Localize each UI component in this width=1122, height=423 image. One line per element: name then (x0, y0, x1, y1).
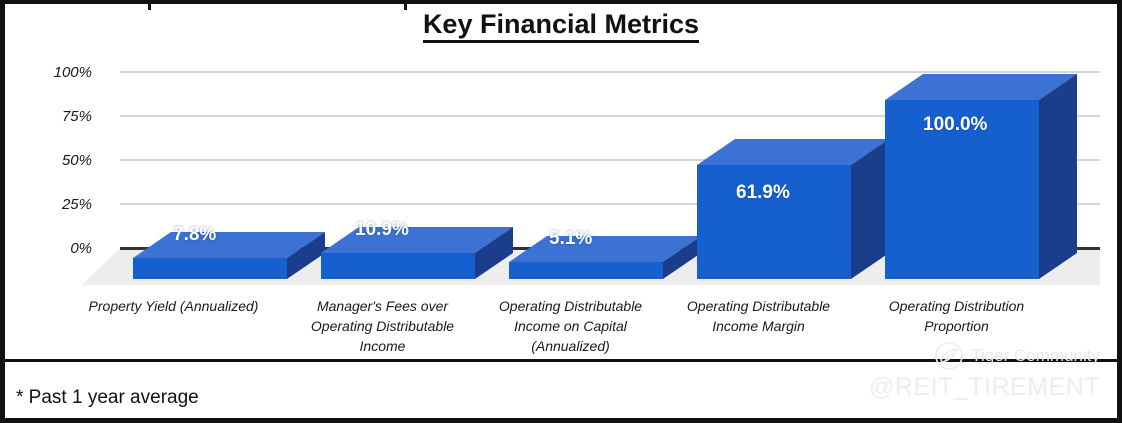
x-category-label-1: Property Yield (Annualized) (66, 296, 281, 316)
watermark-handle: @REIT_TIREMENT (869, 373, 1100, 402)
x-category-label-2: Manager's Fees over Operating Distributa… (275, 296, 490, 356)
x-category-label-4: Operating Distributable Income Margin (651, 296, 866, 336)
x-category-label-2-line-1: Manager's Fees over (275, 296, 490, 316)
x-category-label-5-line-2: Proportion (849, 316, 1064, 336)
frame-border-bottom (0, 418, 1122, 423)
watermark: Tiger Community @REIT_TIREMENT (869, 341, 1100, 402)
bar-label-5: 100.0% (923, 114, 987, 136)
x-category-label-2-line-2: Operating Distributable (275, 316, 490, 336)
chart-canvas: Key Financial Metrics 100% 75% 50% 25% 0… (0, 0, 1122, 423)
x-category-label-5-line-1: Operating Distribution (849, 296, 1064, 316)
x-category-label-3: Operating Distributable Income on Capita… (463, 296, 678, 356)
x-category-label-3-line-3: (Annualized) (463, 336, 678, 356)
watermark-brand-row: Tiger Community (869, 341, 1100, 371)
tiger-globe-icon (934, 341, 964, 371)
x-category-label-1-line-1: Property Yield (Annualized) (66, 296, 281, 316)
x-category-label-4-line-2: Income Margin (651, 316, 866, 336)
x-category-label-5: Operating Distribution Proportion (849, 296, 1064, 336)
x-category-label-3-line-1: Operating Distributable (463, 296, 678, 316)
x-category-label-4-line-1: Operating Distributable (651, 296, 866, 316)
x-category-label-3-line-2: Income on Capital (463, 316, 678, 336)
plot-area: 100% 75% 50% 25% 0% 7.8% 10.9% (0, 0, 1122, 360)
x-category-label-2-line-3: Income (275, 336, 490, 356)
watermark-community-label: Tiger Community (971, 346, 1100, 366)
footnote-text: * Past 1 year average (16, 387, 199, 409)
